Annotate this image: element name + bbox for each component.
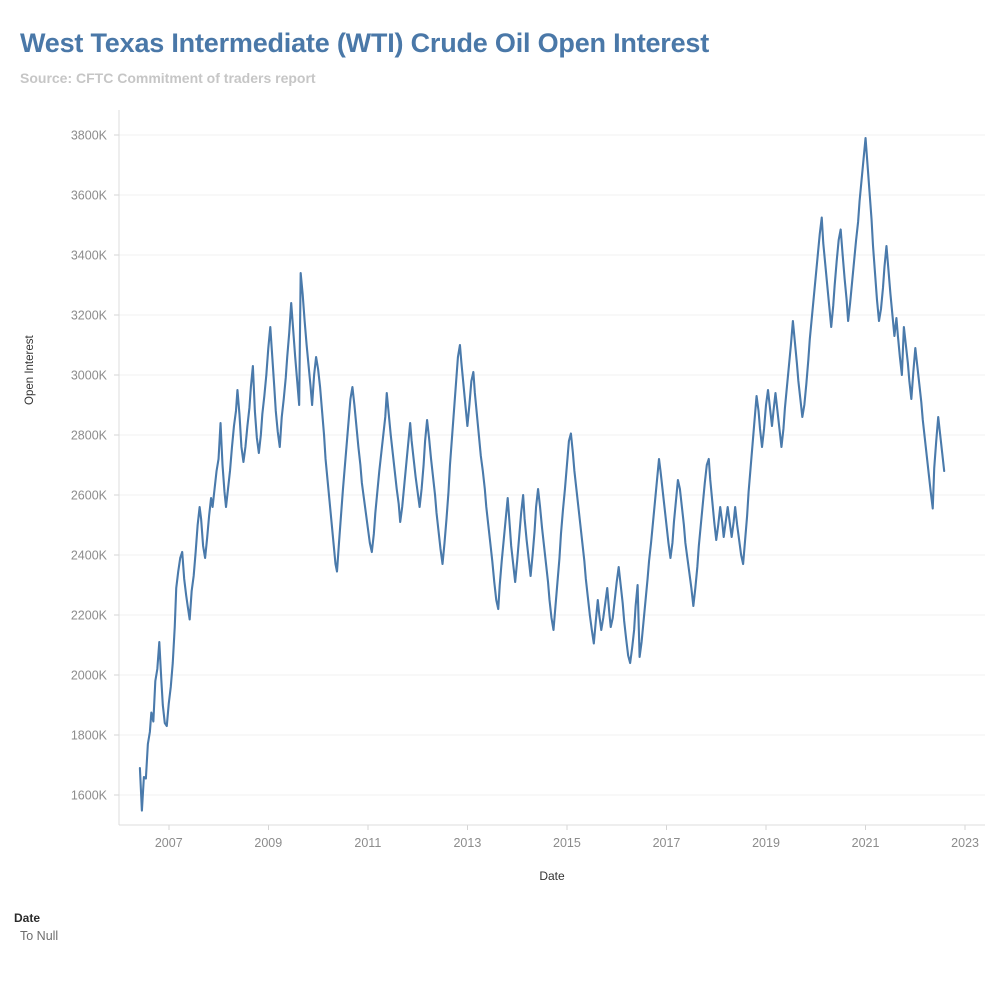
series-group [140,138,944,811]
chart-root: West Texas Intermediate (WTI) Crude Oil … [0,0,999,999]
y-tick-label: 2600K [71,489,108,503]
x-axis-title: Date [119,869,985,883]
x-tick-label: 2013 [453,836,481,850]
y-tick-label: 3200K [71,309,108,323]
x-tick-label: 2015 [553,836,581,850]
legend-item-to-null[interactable]: To Null [14,929,58,943]
y-tick-label: 1800K [71,729,108,743]
line-chart-svg: 1600K1800K2000K2200K2400K2600K2800K3000K… [0,0,999,999]
y-tick-label: 2200K [71,609,108,623]
gridlines-group [119,135,985,795]
y-tick-label: 2400K [71,549,108,563]
y-tick-label: 2800K [71,429,108,443]
y-tick-label: 3400K [71,249,108,263]
y-axis-title: Open Interest [24,389,36,405]
series-line-open-interest [140,138,944,811]
y-tick-label: 2000K [71,669,108,683]
legend: Date To Null [14,911,58,943]
y-axis-tick-labels: 1600K1800K2000K2200K2400K2600K2800K3000K… [71,129,108,803]
axis-lines [114,110,985,830]
y-tick-label: 3000K [71,369,108,383]
x-tick-label: 2011 [354,836,381,850]
y-tick-label: 1600K [71,789,108,803]
x-tick-label: 2009 [254,836,282,850]
x-tick-label: 2021 [852,836,880,850]
y-tick-label: 3800K [71,129,108,143]
x-axis-tick-labels: 200720092011201320152017201920212023 [155,836,979,850]
x-tick-label: 2007 [155,836,183,850]
plot-area: 1600K1800K2000K2200K2400K2600K2800K3000K… [0,0,999,999]
legend-caption: Date [14,911,58,925]
y-tick-label: 3600K [71,189,108,203]
x-tick-label: 2017 [653,836,681,850]
x-tick-label: 2019 [752,836,780,850]
x-tick-label: 2023 [951,836,979,850]
